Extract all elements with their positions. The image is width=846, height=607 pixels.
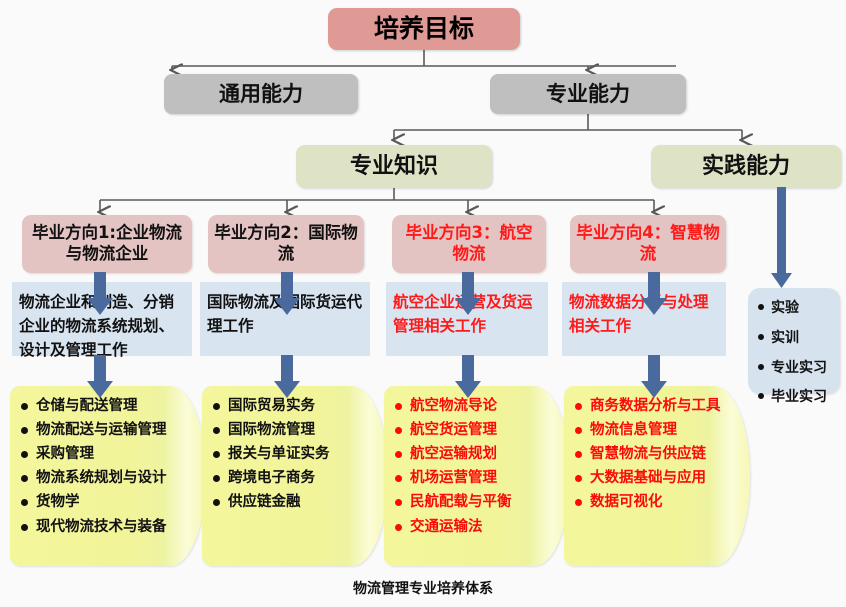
- list-item: 物流配送与运输管理: [20, 422, 180, 439]
- ability-label-professional: 专业能力: [546, 81, 630, 107]
- list-item: 采购管理: [20, 446, 180, 463]
- list-item: 报关与单证实务: [212, 446, 362, 463]
- job-box-1: 物流企业和制造、分销企业的物流系统规划、设计及管理工作: [12, 282, 192, 356]
- direction-label-4: 毕业方向4：智慧物流: [576, 223, 720, 264]
- list-item: 仓储与配送管理: [20, 398, 180, 415]
- list-item: 航空货运管理: [394, 422, 544, 439]
- knowledge-box-professional: 专业知识: [296, 145, 492, 188]
- direction-box-2: 毕业方向2：国际物流: [208, 215, 364, 273]
- practice-panel: 实验实训专业实习毕业实习: [748, 288, 840, 394]
- course-panel-4: 商务数据分析与工具物流信息管理智慧物流与供应链大数据基础与应用数据可视化: [564, 386, 750, 566]
- list-item: 民航配载与平衡: [394, 494, 544, 511]
- list-item: 商务数据分析与工具: [574, 398, 724, 415]
- list-item: 航空物流导论: [394, 398, 544, 415]
- ability-box-general: 通用能力: [164, 74, 358, 114]
- job-box-2: 国际物流及国际货运代理工作: [200, 282, 370, 356]
- direction-box-3: 毕业方向3：航空物流: [392, 215, 546, 273]
- knowledge-box-practice: 实践能力: [651, 145, 841, 188]
- list-item: 物流信息管理: [574, 422, 724, 439]
- goal-box: 培养目标: [328, 8, 520, 50]
- diagram-canvas: 培养目标 通用能力 专业能力 专业知识 实践能力 毕业方向1:企业物流与物流企业…: [0, 0, 846, 607]
- list-item: 智慧物流与供应链: [574, 446, 724, 463]
- list-item: 物流系统规划与设计: [20, 470, 180, 487]
- list-item: 机场运营管理: [394, 470, 544, 487]
- list-item: 毕业实习: [758, 389, 832, 406]
- course-list-2: 国际贸易实务国际物流管理报关与单证实务跨境电子商务供应链金融: [212, 398, 362, 512]
- direction-label-1: 毕业方向1:企业物流与物流企业: [28, 223, 186, 264]
- course-panel-1: 仓储与配送管理物流配送与运输管理采购管理物流系统规划与设计货物学现代物流技术与装…: [10, 386, 206, 566]
- knowledge-label-practice: 实践能力: [702, 153, 790, 181]
- list-item: 大数据基础与应用: [574, 470, 724, 487]
- ability-label-general: 通用能力: [219, 81, 303, 107]
- list-item: 跨境电子商务: [212, 470, 362, 487]
- list-item: 国际物流管理: [212, 422, 362, 439]
- goal-label: 培养目标: [374, 13, 474, 44]
- practice-list: 实验实训专业实习毕业实习: [758, 300, 832, 406]
- course-list-4: 商务数据分析与工具物流信息管理智慧物流与供应链大数据基础与应用数据可视化: [574, 398, 724, 512]
- knowledge-label-professional: 专业知识: [350, 153, 438, 181]
- list-item: 货物学: [20, 494, 180, 511]
- job-label-2: 国际物流及国际货运代理工作: [207, 290, 364, 338]
- direction-box-4: 毕业方向4：智慧物流: [570, 215, 726, 273]
- list-item: 国际贸易实务: [212, 398, 362, 415]
- job-label-3: 航空企业运营及货运管理相关工作: [393, 290, 542, 338]
- direction-label-3: 毕业方向3：航空物流: [398, 223, 540, 264]
- job-label-4: 物流数据分析与处理相关工作: [569, 290, 720, 338]
- list-item: 实验: [758, 300, 832, 317]
- list-item: 航空运输规划: [394, 446, 544, 463]
- list-item: 专业实习: [758, 360, 832, 377]
- course-list-3: 航空物流导论航空货运管理航空运输规划机场运营管理民航配载与平衡交通运输法: [394, 398, 544, 536]
- list-item: 数据可视化: [574, 494, 724, 511]
- direction-box-1: 毕业方向1:企业物流与物流企业: [22, 215, 192, 273]
- direction-label-2: 毕业方向2：国际物流: [214, 223, 358, 264]
- job-box-4: 物流数据分析与处理相关工作: [562, 282, 726, 356]
- ability-box-professional: 专业能力: [490, 74, 686, 114]
- course-panel-2: 国际贸易实务国际物流管理报关与单证实务跨境电子商务供应链金融: [202, 386, 388, 566]
- list-item: 交通运输法: [394, 519, 544, 536]
- list-item: 实训: [758, 330, 832, 347]
- course-panel-3: 航空物流导论航空货运管理航空运输规划机场运营管理民航配载与平衡交通运输法: [384, 386, 570, 566]
- course-list-1: 仓储与配送管理物流配送与运输管理采购管理物流系统规划与设计货物学现代物流技术与装…: [20, 398, 180, 536]
- job-label-1: 物流企业和制造、分销企业的物流系统规划、设计及管理工作: [19, 290, 186, 362]
- list-item: 供应链金融: [212, 494, 362, 511]
- list-item: 现代物流技术与装备: [20, 519, 180, 536]
- job-box-3: 航空企业运营及货运管理相关工作: [386, 282, 548, 356]
